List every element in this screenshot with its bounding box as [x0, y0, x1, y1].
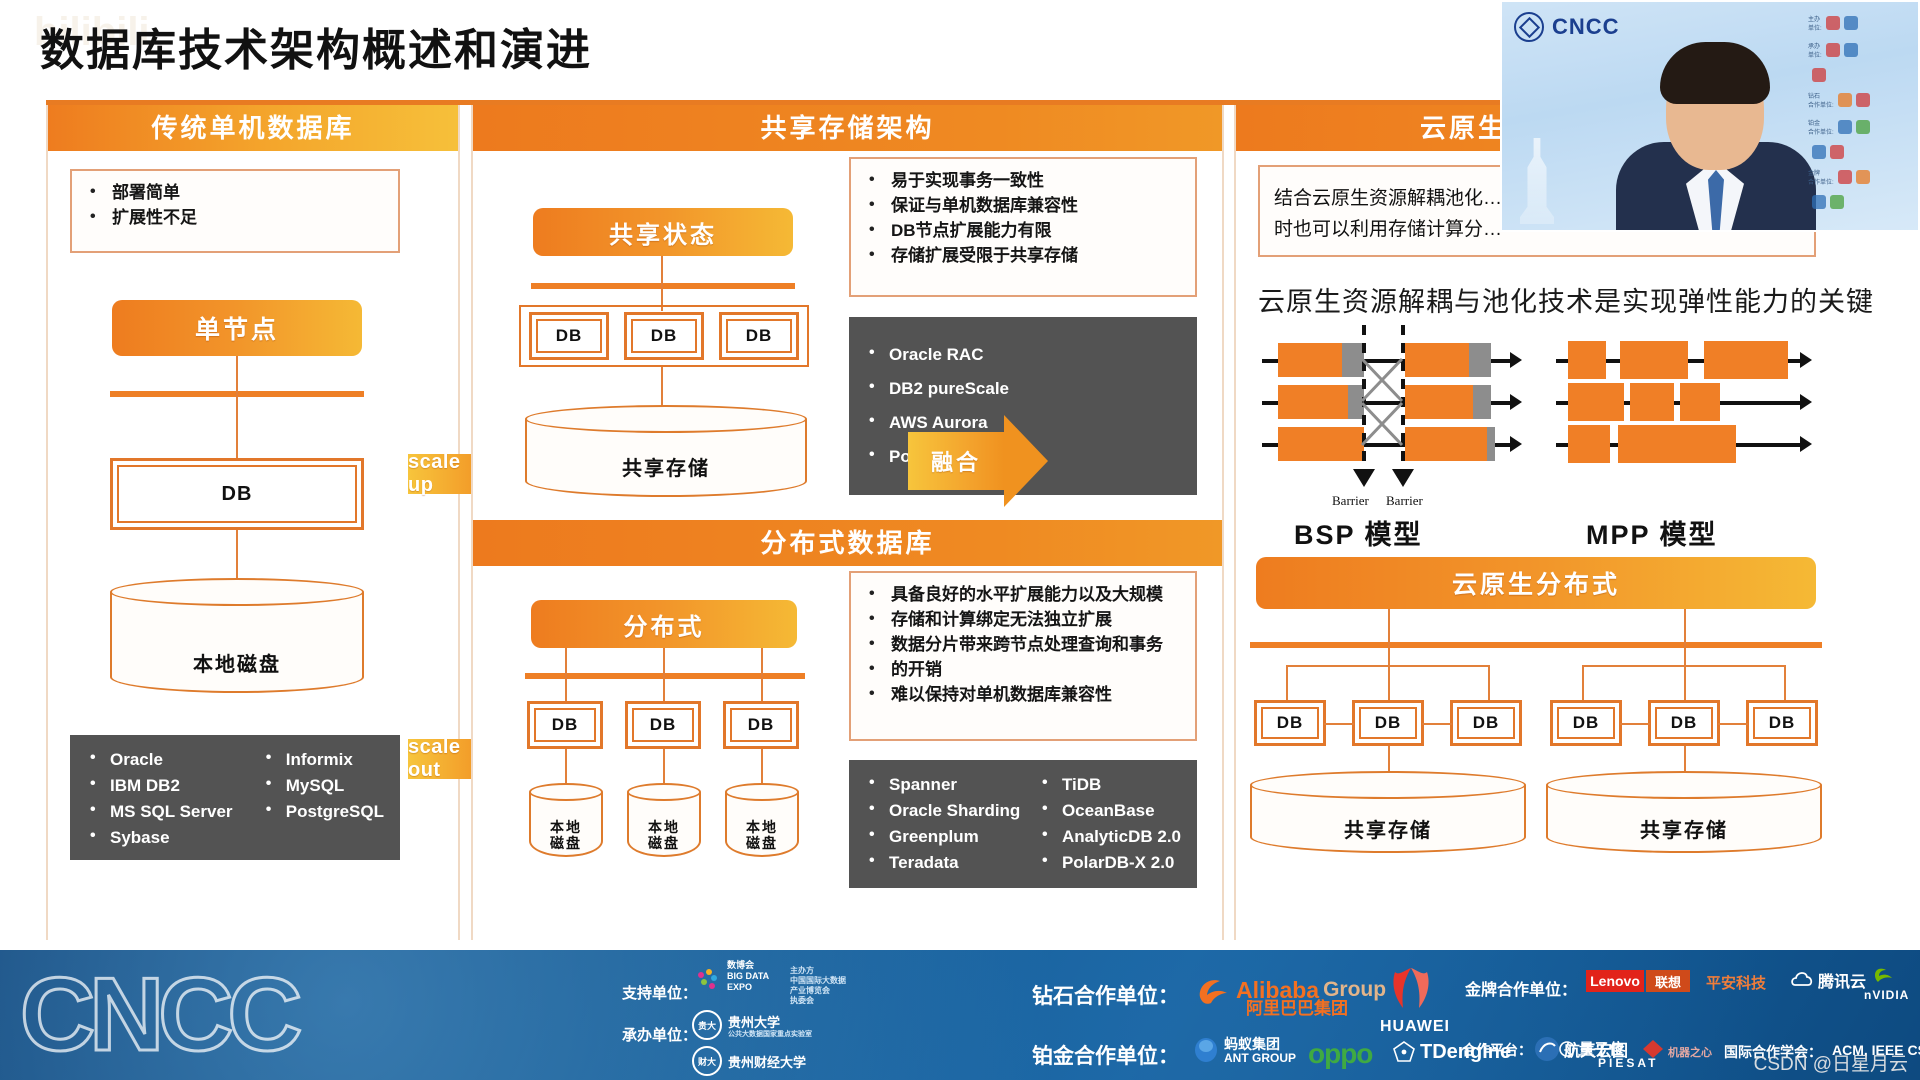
qbitai-logo: 量子位 [1558, 1038, 1624, 1059]
mpp-model-diagram [1556, 333, 1818, 473]
bsp-model-name: BSP 模型 [1294, 513, 1423, 552]
shared-storage-label: 共享存储 [525, 452, 807, 481]
single-node-pill: 单节点 [112, 300, 362, 356]
list-item: Oracle Sharding [865, 798, 1028, 824]
bsp-model-diagram: Barrier Barrier [1262, 333, 1532, 473]
db-node: DB [1352, 700, 1424, 746]
connector [1718, 723, 1748, 725]
bigdata-expo-text: 数博会BIG DATAEXPO [727, 960, 769, 993]
list-item: PolarDB-X 2.0 [1038, 850, 1181, 876]
local-disk-cylinder: 本地 磁盘 [529, 783, 603, 857]
db-node-label: DB [552, 715, 579, 735]
db-node: DB [1254, 700, 1326, 746]
db-node-label: DB [1769, 713, 1796, 733]
shared-storage-cylinder: 共享存储 [525, 405, 807, 497]
connector [1422, 723, 1452, 725]
distributed-products-box: Spanner Oracle Sharding Greenplum Terada… [849, 760, 1197, 888]
connector [661, 256, 663, 286]
column-shared-storage-header: 共享存储架构 [473, 105, 1222, 151]
connector [236, 356, 238, 394]
mpp-model-name: MPP 模型 [1586, 513, 1718, 552]
db-node-label: DB [748, 715, 775, 735]
cncc-logo: CNCC [1514, 12, 1620, 42]
local-disk-cylinder: 本地 磁盘 [627, 783, 701, 857]
list-item: Sybase [86, 825, 252, 851]
connector [663, 749, 665, 785]
column-traditional-header: 传统单机数据库 [48, 105, 458, 151]
guizhou-finance-university-text: 贵州财经大学 [728, 1052, 806, 1071]
tower-decoration [1520, 138, 1554, 224]
connector [1582, 665, 1786, 667]
db-node-label: DB [1473, 713, 1500, 733]
connector [236, 391, 238, 458]
cncc-brand-text: CNCC [1552, 14, 1620, 40]
connector [236, 530, 238, 582]
db-node-label: DB [1375, 713, 1402, 733]
list-item: MS SQL Server [86, 799, 252, 825]
connector [1388, 642, 1390, 704]
barrier-label: Barrier [1386, 493, 1423, 509]
connector [663, 673, 665, 703]
db-node: DB [719, 312, 799, 360]
oppo-logo: oppo [1308, 1038, 1372, 1070]
local-disk-label-line2: 磁盘 [550, 835, 582, 851]
shared-storage-feature-box: 易于实现事务一致性 保证与单机数据库兼容性 DB节点扩展能力有限 存储扩展受限于… [849, 157, 1197, 297]
webcam-sponsor-strip: 主办单位: 承办单位: 钻石合作单位: 铂金合作单位: 金牌合作单位: [1808, 14, 1912, 218]
db-node-label: DB [746, 326, 773, 346]
list-item-continuation: 的开销 [865, 657, 1181, 682]
list-item: Oracle RAC [865, 338, 1009, 372]
list-item: 部署简单 [86, 180, 384, 205]
webcam-overlay[interactable]: CNCC 主办单位: 承办单位: 钻石合作单位: 铂金合作单位: 金牌合作单位: [1500, 0, 1920, 232]
list-item: DB2 pureScale [865, 372, 1009, 406]
speaker-video [1620, 30, 1810, 230]
db-node-label: DB [556, 326, 583, 346]
db-node-label: DB [1671, 713, 1698, 733]
connector [761, 749, 763, 785]
jiqizhixin-text: 机器之心 [1668, 1044, 1712, 1060]
list-item: 数据分片带来跨节点处理查询和事务 [865, 632, 1181, 657]
tencent-cloud-logo: 腾讯云 [1790, 968, 1866, 992]
lenovo-logo: Lenovo [1586, 970, 1644, 992]
list-item: AnalyticDB 2.0 [1038, 824, 1181, 850]
barrier-label: Barrier [1332, 493, 1369, 509]
jiqizhixin-logo [1640, 1038, 1666, 1060]
guizhou-finance-university-logo: 财大 [692, 1046, 722, 1076]
connector [1620, 723, 1650, 725]
connector [1286, 665, 1288, 703]
db-node: DB [1746, 700, 1818, 746]
db-node: DB [625, 701, 701, 749]
alibaba-cn-text: 阿里巴巴集团 [1246, 994, 1348, 1019]
list-item: MySQL [262, 773, 384, 799]
connector [1684, 642, 1686, 704]
connector [761, 673, 763, 703]
column-shared-and-distributed: 共享存储架构 共享状态 DB DB DB 共享存储 易于实现事务一致性 保证与单… [471, 105, 1224, 940]
lenovo-cn-logo: 联想 [1646, 970, 1690, 992]
bus-bar [531, 283, 795, 289]
bsp-crossing-lines [1360, 357, 1404, 449]
list-item: 扩展性不足 [86, 205, 384, 230]
cloud-native-headline: 云原生资源解耦与池化技术是实现弹性能力的关键 [1258, 280, 1874, 319]
sponsor-group-label-platform: 合作平台： [1462, 1040, 1532, 1060]
sponsor-group-label-organizer: 承办单位： [622, 1024, 697, 1045]
local-disk-label-line2: 磁盘 [648, 835, 680, 851]
db-node: DB [527, 701, 603, 749]
db-node: DB [723, 701, 799, 749]
distributed-feature-box: 具备良好的水平扩展能力以及大规模 存储和计算绑定无法独立扩展 数据分片带来跨节点… [849, 571, 1197, 741]
list-item: Spanner [865, 772, 1028, 798]
sponsor-group-label-support: 支持单位： [622, 982, 697, 1003]
shared-storage-label: 共享存储 [1546, 814, 1822, 843]
db-node: DB [110, 458, 364, 530]
sponsor-group-label-diamond: 钻石合作单位： [1032, 980, 1179, 1010]
ant-group-logo [1192, 1034, 1220, 1064]
list-item: Teradata [865, 850, 1028, 876]
db-node-label: DB [650, 715, 677, 735]
pingan-tech-logo: 平安科技 [1706, 972, 1766, 993]
list-item: 难以保持对单机数据库兼容性 [865, 682, 1181, 707]
list-item: PostgreSQL [262, 799, 384, 825]
ant-group-en-text: ANT GROUP [1224, 1051, 1296, 1065]
list-item: 保证与单机数据库兼容性 [865, 193, 1181, 218]
db-node-label: DB [222, 483, 253, 506]
expo-subtitle: 主办方中国国际大数据产业博览会执委会 [790, 966, 846, 1006]
local-disk-label-line1: 本地 [746, 819, 778, 835]
connector [1784, 665, 1786, 703]
list-item: DB节点扩展能力有限 [865, 218, 1181, 243]
connector [1684, 609, 1686, 645]
shared-storage-cylinder: 共享存储 [1546, 771, 1822, 853]
connector [761, 648, 763, 676]
local-disk-label: 本地磁盘 [110, 648, 364, 677]
bigdata-expo-logo [690, 964, 724, 998]
distributed-pill: 分布式 [531, 600, 797, 648]
csdn-watermark: CSDN @日星月云 [1754, 1049, 1908, 1076]
list-item: Informix [262, 747, 384, 773]
list-item: OceanBase [1038, 798, 1181, 824]
connector [1324, 723, 1354, 725]
huawei-logo [1378, 962, 1444, 1018]
ccf-icon [1514, 12, 1544, 42]
nvidia-logo [1872, 964, 1898, 986]
list-item: 存储扩展受限于共享存储 [865, 243, 1181, 268]
guizhou-university-lab: 公共大数据国家重点实验室 [728, 1029, 812, 1039]
nvidia-text: nVIDIA [1864, 988, 1909, 1002]
local-disk-label-line1: 本地 [648, 819, 680, 835]
local-disk-label: 本地 磁盘 [725, 819, 799, 851]
connector [1582, 665, 1584, 703]
connector [1488, 665, 1490, 703]
huawei-text: HUAWEI [1380, 1018, 1450, 1036]
list-item: 存储和计算绑定无法独立扩展 [865, 607, 1181, 632]
list-item: Greenplum [865, 824, 1028, 850]
db-node: DB [624, 312, 704, 360]
local-disk-label: 本地 磁盘 [627, 819, 701, 851]
traditional-products-box: Oracle IBM DB2 MS SQL Server Sybase Info… [70, 735, 400, 860]
connector [1286, 665, 1490, 667]
db-node-label: DB [1573, 713, 1600, 733]
local-disk-cylinder: 本地 磁盘 [725, 783, 799, 857]
sponsor-group-label-platinum: 铂金合作单位： [1032, 1040, 1179, 1070]
sponsor-bar: CNCC 支持单位： 数博会BIG DATAEXPO 主办方中国国际大数据产业博… [0, 950, 1920, 1080]
column-traditional: 传统单机数据库 部署简单 扩展性不足 单节点 DB 本地磁盘 Oracle IB… [46, 105, 460, 940]
connector [663, 648, 665, 676]
local-disk-label-line1: 本地 [550, 819, 582, 835]
list-item: TiDB [1038, 772, 1181, 798]
list-item: Oracle [86, 747, 252, 773]
connector [565, 749, 567, 785]
sponsor-group-label-gold: 金牌合作单位： [1465, 976, 1577, 1000]
connector [1684, 746, 1686, 774]
local-disk-label: 本地 磁盘 [529, 819, 603, 851]
connector [565, 648, 567, 676]
shared-storage-cylinder: 共享存储 [1250, 771, 1526, 853]
page-title: 数据库技术架构概述和演进 [40, 14, 592, 78]
cncc-wordmark: CNCC [20, 956, 296, 1075]
connector [565, 673, 567, 703]
db-node: DB [1550, 700, 1622, 746]
traditional-feature-box: 部署简单 扩展性不足 [70, 169, 400, 253]
db-node: DB [529, 312, 609, 360]
local-disk-cylinder: 本地磁盘 [110, 578, 364, 693]
list-item: 具备良好的水平扩展能力以及大规模 [865, 582, 1181, 607]
connector [1388, 609, 1390, 645]
shared-storage-label: 共享存储 [1250, 814, 1526, 843]
merge-arrow: 融合 [908, 415, 1048, 507]
column-distributed-header: 分布式数据库 [473, 520, 1222, 566]
connector [1388, 746, 1390, 774]
list-item: IBM DB2 [86, 773, 252, 799]
guizhou-university-logo: 贵大 [692, 1010, 722, 1040]
bus-bar [525, 673, 805, 679]
list-item: 易于实现事务一致性 [865, 168, 1181, 193]
shared-state-pill: 共享状态 [533, 208, 793, 256]
db-node-label: DB [651, 326, 678, 346]
bus-bar [1250, 642, 1822, 648]
db-node: DB [1648, 700, 1720, 746]
db-node-label: DB [1277, 713, 1304, 733]
db-node: DB [1450, 700, 1522, 746]
local-disk-label-line2: 磁盘 [746, 835, 778, 851]
cloud-native-pill: 云原生分布式 [1256, 557, 1816, 609]
merge-label: 融合 [908, 432, 1004, 490]
